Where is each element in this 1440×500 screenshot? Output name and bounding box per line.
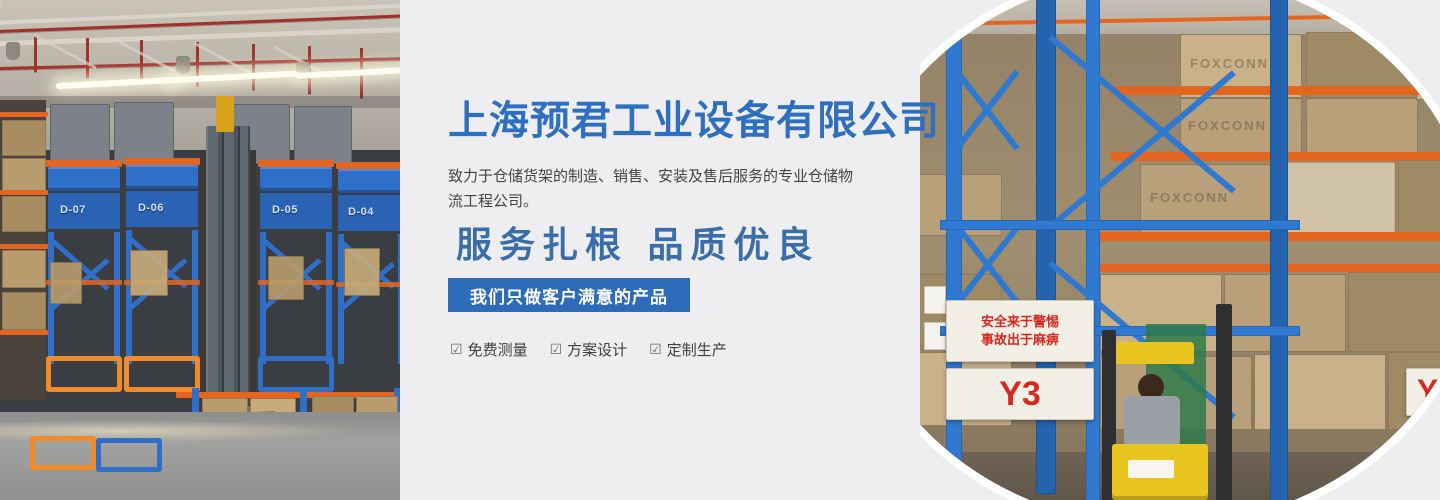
ceiling-lamp <box>176 56 190 74</box>
slogan: 服务扎根 品质优良 <box>456 227 820 263</box>
cta-button[interactable]: 我们只做客户满意的产品 <box>448 278 690 312</box>
carton <box>1398 160 1440 236</box>
carton <box>2 196 46 232</box>
stacker-rail <box>232 126 240 426</box>
left-warehouse-photo: D-07 D-06 <box>0 0 400 500</box>
feature-list: ☑ 免费测量 ☑ 方案设计 ☑ 定制生产 <box>450 339 727 360</box>
stacked-goods <box>114 102 174 164</box>
company-subtitle: 致力于仓储货架的制造、销售、安装及售后服务的专业仓储物流工程公司。 <box>448 164 860 214</box>
carton <box>2 158 46 194</box>
carton-brand-text: FOXCONN <box>1188 118 1267 133</box>
right-warehouse-photo: FOXCONN FOXCONN FOXCONN <box>920 0 1440 500</box>
banner-content: 上海预君工业设备有限公司 致力于仓储货架的制造、销售、安装及售后服务的专业仓储物… <box>448 0 918 500</box>
carton <box>2 120 46 156</box>
safety-sign: 安全来于警惕 事故出于麻痹 <box>946 300 1094 362</box>
rack-beam <box>940 220 1300 230</box>
company-title: 上海预君工业设备有限公司 <box>448 101 940 141</box>
aisle-sign-edge-text: Y3 <box>1417 370 1440 413</box>
rack-upright <box>946 14 962 494</box>
forklift-panel <box>1128 460 1174 478</box>
check-icon: ☑ <box>649 343 662 357</box>
rack-label: D-06 <box>138 202 164 214</box>
rack-beam <box>0 244 48 249</box>
pipe-hanger <box>140 40 143 82</box>
carton <box>1348 272 1440 352</box>
aisle-sign-text: Y3 <box>999 377 1041 411</box>
cta-button-label: 我们只做客户满意的产品 <box>470 283 668 308</box>
photo-circle: FOXCONN FOXCONN FOXCONN <box>920 0 1440 500</box>
rack-foot <box>96 438 162 472</box>
check-icon: ☑ <box>450 343 463 357</box>
carton <box>2 250 46 288</box>
rack-beam <box>0 112 48 117</box>
rack-label: D-07 <box>60 204 86 216</box>
pipe-hanger <box>86 38 89 78</box>
rack-label: D-04 <box>348 206 374 218</box>
hero-banner: D-07 D-06 <box>0 0 1440 500</box>
carton <box>50 262 82 304</box>
aisle-sign: Y3 <box>946 368 1094 420</box>
feature-item-custom-production[interactable]: ☑ 定制生产 <box>649 339 727 360</box>
rack-label: D-05 <box>272 204 298 216</box>
carton <box>344 248 380 296</box>
rack-beam <box>0 190 48 195</box>
ceiling-lamp <box>6 42 20 60</box>
carton <box>130 250 168 296</box>
pipe-hanger <box>252 44 255 90</box>
aisle-sign-edge: Y3 <box>1406 368 1440 416</box>
check-icon: ☑ <box>550 343 563 357</box>
feature-label: 方案设计 <box>567 339 627 360</box>
pipe-hanger <box>34 36 37 72</box>
safety-sign-line-1: 安全来于警惕 <box>981 313 1059 331</box>
carton-brand-text: FOXCONN <box>1150 190 1229 205</box>
feature-label: 定制生产 <box>667 339 727 360</box>
stacked-goods <box>294 106 352 164</box>
stacked-goods <box>50 104 110 164</box>
shelf-tag <box>924 286 946 314</box>
forklift-overhead-guard <box>1116 342 1194 364</box>
stacker-rail <box>216 126 224 426</box>
feature-label: 免费测量 <box>468 339 528 360</box>
carton <box>2 292 46 330</box>
rack-beam <box>0 330 48 335</box>
forklift-mast <box>1216 304 1232 500</box>
feature-item-free-measure[interactable]: ☑ 免费测量 <box>450 339 528 360</box>
carton-brand-text: FOXCONN <box>1190 56 1269 71</box>
operator-body <box>1124 396 1180 444</box>
machine-marker <box>216 96 234 132</box>
carton <box>1306 98 1418 158</box>
carton <box>268 256 304 300</box>
rack-foot <box>30 436 96 470</box>
feature-item-plan-design[interactable]: ☑ 方案设计 <box>550 339 628 360</box>
rack-upright <box>1270 0 1288 500</box>
safety-sign-line-2: 事故出于麻痹 <box>981 331 1059 349</box>
stacker-mast <box>206 126 250 426</box>
